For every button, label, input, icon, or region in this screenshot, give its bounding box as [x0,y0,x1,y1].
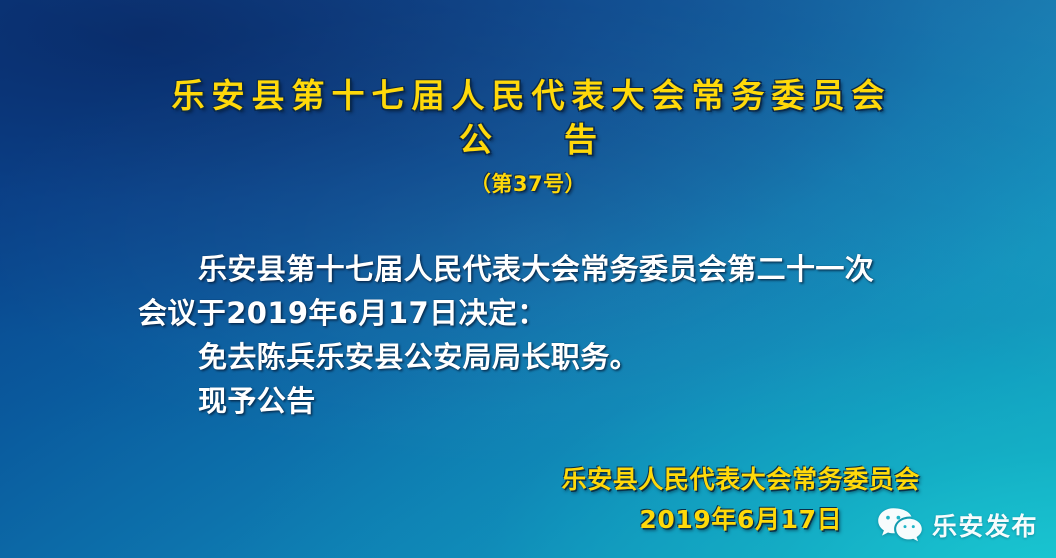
page-title-line-2-part-2: 告 [564,120,597,159]
signature-issuer: 乐安县人民代表大会常务委员会 [562,460,920,500]
wechat-icon [877,506,923,544]
wechat-account-name: 乐安发布 [932,507,1038,543]
announcement-slide: 乐安县第十七届人民代表大会常务委员会 公告 （第37号） 乐安县第十七届人民代表… [0,0,1056,558]
document-number: （第37号） [0,168,1056,198]
page-title-line-1: 乐安县第十七届人民代表大会常务委员会 [0,74,1056,118]
title-block: 乐安县第十七届人民代表大会常务委员会 公告 [0,74,1056,162]
page-title-line-2-part-1: 公 [459,120,492,159]
body-line: 会议于2019年6月17日决定： [138,291,938,335]
page-title-line-2: 公告 [0,118,1056,162]
body-line: 免去陈兵乐安县公安局局长职务。 [138,335,938,379]
signature-block: 乐安县人民代表大会常务委员会 2019年6月17日 [562,460,920,540]
wechat-watermark: 乐安发布 [877,506,1038,544]
body-line: 乐安县第十七届人民代表大会常务委员会第二十一次 [138,247,938,291]
signature-date: 2019年6月17日 [562,500,920,540]
body-text: 乐安县第十七届人民代表大会常务委员会第二十一次 会议于2019年6月17日决定：… [138,247,938,423]
body-line: 现予公告 [138,379,938,423]
